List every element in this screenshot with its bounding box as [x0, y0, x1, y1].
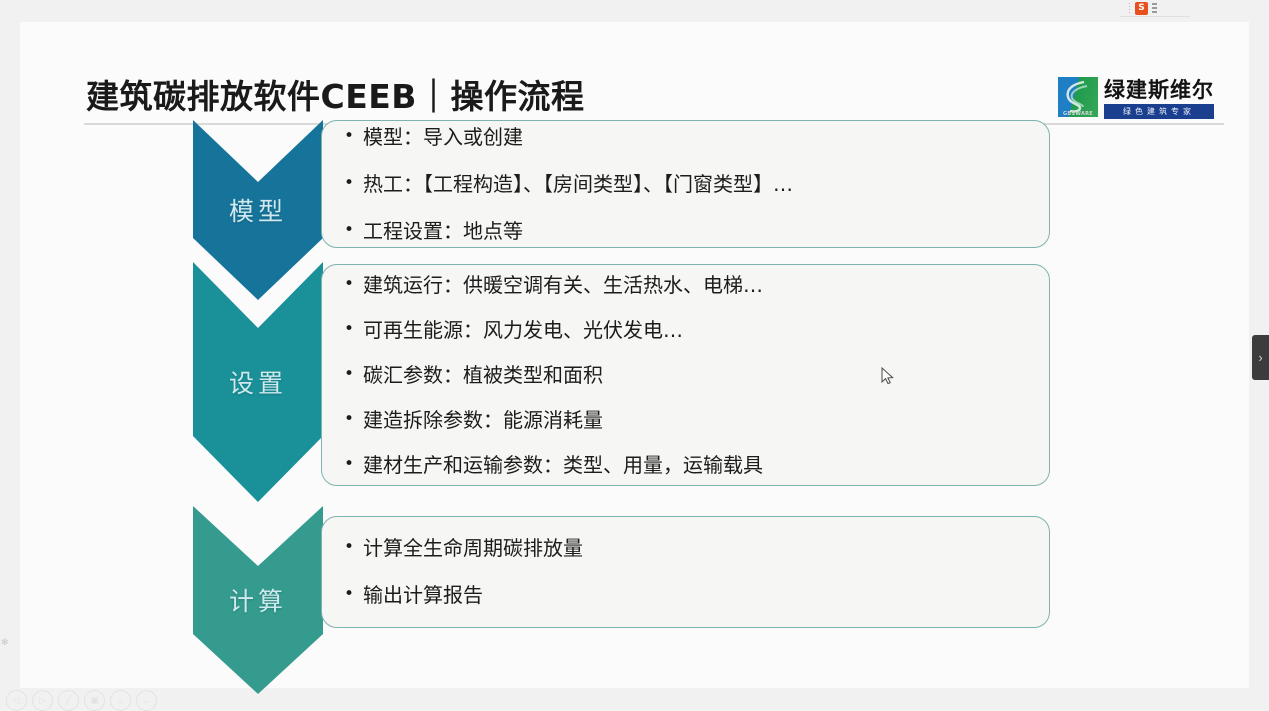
company-logo: GBSWARE 绿建斯维尔 绿色建筑专家: [1058, 77, 1226, 123]
camera-icon: ▣: [90, 695, 99, 706]
play-icon: ▷: [39, 695, 46, 706]
minimize-button[interactable]: –: [136, 690, 157, 711]
top-widget-rule: [1120, 16, 1190, 17]
kebab-menu-icon[interactable]: [1151, 2, 1158, 15]
bullet-item: • 建造拆除参数：能源消耗量: [344, 408, 1027, 433]
pen-icon: ╱: [66, 695, 71, 706]
bullet-dot-icon: •: [344, 219, 354, 242]
bullet-text: 计算全生命周期碳排放量: [363, 536, 583, 561]
floating-widget[interactable]: S: [1128, 0, 1190, 16]
annotate-button[interactable]: ╱: [58, 690, 79, 711]
flow-step-panel-2: • 建筑运行：供暖空调有关、生活热水、电梯… • 可再生能源：风力发电、光伏发电…: [321, 264, 1050, 486]
flow-step-label-2: 设置: [229, 364, 287, 400]
flow-step-chevron-2: 设置: [193, 262, 323, 502]
bullet-text: 热工：【工程构造】、【房间类型】、【门窗类型】…: [363, 172, 793, 197]
bullet-item: • 碳汇参数：植被类型和面积: [344, 363, 1027, 388]
logo-tagline: 绿色建筑专家: [1104, 104, 1214, 119]
presentation-viewer: 建筑碳排放软件CEEB｜操作流程 GBSWARE 绿建斯维尔 绿色建筑专家 模型: [0, 0, 1269, 710]
left-edge-marker: ✻: [1, 638, 9, 648]
bullet-item: • 输出计算报告: [344, 583, 1027, 608]
bullet-text: 模型：导入或创建: [363, 125, 523, 150]
flow-step-panel-1: • 模型：导入或创建 • 热工：【工程构造】、【房间类型】、【门窗类型】… • …: [321, 120, 1050, 248]
bullet-text: 建筑运行：供暖空调有关、生活热水、电梯…: [363, 273, 763, 298]
bullet-item: • 建材生产和运输参数：类型、用量，运输载具: [344, 453, 1027, 478]
page-title: 建筑碳排放软件CEEB｜操作流程: [86, 70, 584, 118]
bullet-text: 建材生产和运输参数：类型、用量，运输载具: [363, 453, 763, 478]
volume-button[interactable]: ◁: [6, 690, 27, 711]
logo-text-group: 绿建斯维尔 绿色建筑专家: [1104, 77, 1214, 119]
bullet-dot-icon: •: [344, 125, 354, 148]
bullet-text: 碳汇参数：植被类型和面积: [363, 363, 603, 388]
app-badge-icon[interactable]: S: [1135, 2, 1148, 15]
logo-company-name: 绿建斯维尔: [1104, 78, 1214, 102]
bullet-dot-icon: •: [344, 318, 354, 341]
bullet-item: • 模型：导入或创建: [344, 125, 1027, 150]
bullet-dot-icon: •: [344, 583, 354, 606]
player-toolbar: ◁ ▷ ╱ ▣ ○ –: [6, 690, 157, 711]
bullet-dot-icon: •: [344, 408, 354, 431]
bullet-item: • 热工：【工程构造】、【房间类型】、【门窗类型】…: [344, 172, 1027, 197]
bullet-dot-icon: •: [344, 273, 354, 296]
flow-step-label-1: 模型: [229, 192, 287, 228]
bullet-text: 可再生能源：风力发电、光伏发电…: [363, 318, 683, 343]
minus-icon: –: [144, 696, 149, 706]
flow-step-label-3: 计算: [229, 582, 287, 618]
side-panel-toggle[interactable]: ›: [1252, 335, 1269, 380]
mouse-cursor: [881, 367, 895, 385]
bullet-dot-icon: •: [344, 536, 354, 559]
bullet-item: • 可再生能源：风力发电、光伏发电…: [344, 318, 1027, 343]
speaker-icon: ◁: [13, 695, 20, 706]
bullet-text: 输出计算报告: [363, 583, 483, 608]
bullet-item: • 计算全生命周期碳排放量: [344, 536, 1027, 561]
bullet-text: 工程设置：地点等: [363, 219, 523, 244]
bullet-item: • 建筑运行：供暖空调有关、生活热水、电梯…: [344, 273, 1027, 298]
screenshot-button[interactable]: ▣: [84, 690, 105, 711]
logo-mark-icon: GBSWARE: [1058, 77, 1098, 117]
bullet-dot-icon: •: [344, 453, 354, 476]
bullet-dot-icon: •: [344, 363, 354, 386]
bullet-item: • 工程设置：地点等: [344, 219, 1027, 244]
bullet-text: 建造拆除参数：能源消耗量: [363, 408, 603, 433]
flow-step-panel-3: • 计算全生命周期碳排放量 • 输出计算报告: [321, 516, 1050, 628]
slide-stage: 建筑碳排放软件CEEB｜操作流程 GBSWARE 绿建斯维尔 绿色建筑专家 模型: [20, 22, 1249, 688]
chevron-right-icon: ›: [1258, 350, 1262, 365]
play-button[interactable]: ▷: [32, 690, 53, 711]
drag-dots-icon[interactable]: [1128, 2, 1132, 14]
flow-step-chevron-3: 计算: [193, 506, 323, 694]
bullet-dot-icon: •: [344, 172, 354, 195]
magnifier-icon: ○: [118, 696, 123, 706]
logo-mark-text: GBSWARE: [1058, 111, 1098, 117]
zoom-button[interactable]: ○: [110, 690, 131, 711]
